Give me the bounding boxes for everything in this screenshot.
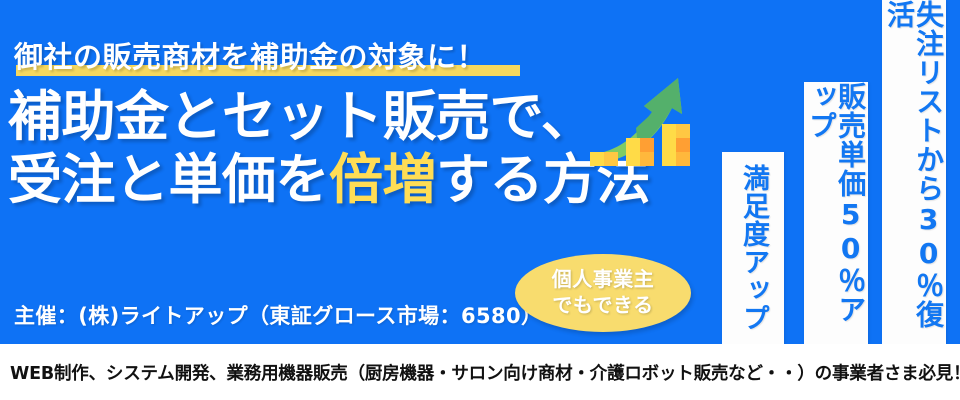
title-line-2-prefix: 受注と単価を: [8, 148, 329, 211]
bottom-target-bar: WEB制作、システム開発、業務用機器販売（厨房機器・サロン向け商材・介護ロボット…: [0, 344, 960, 400]
benefit-panel-unit-price-text: 販売単価50％アップ: [807, 82, 865, 344]
badge-sole-proprietor: 個人事業主 でもできる: [515, 254, 691, 332]
marketing-banner: 御社の販売商材を補助金の対象に！ 補助金とセット販売で、 受注と単価を倍増する方…: [0, 0, 960, 400]
benefit-panel-lost-deals-text: 失注リストから30％復活: [885, 0, 943, 344]
eyebrow-headline: 御社の販売商材を補助金の対象に！: [14, 30, 486, 76]
benefit-panel-unit-price: 販売単価50％アップ: [804, 82, 868, 344]
title-line-2-highlight: 倍増: [329, 148, 436, 211]
growth-chart-icon: [586, 68, 698, 172]
badge-line-2: でもできる: [552, 293, 653, 319]
bottom-target-text: WEB制作、システム開発、業務用機器販売（厨房機器・サロン向け商材・介護ロボット…: [10, 360, 960, 385]
benefit-panel-lost-deals: 失注リストから30％復活: [882, 0, 946, 344]
eyebrow-text: 御社の販売商材を補助金の対象に！: [14, 43, 486, 76]
badge-line-1: 個人事業主: [552, 267, 655, 293]
benefit-panel-satisfaction: 満足度アップ: [722, 152, 784, 344]
organizer-line: 主催：(株)ライトアップ（東証グロース市場：6580）: [14, 300, 542, 330]
benefit-panel-satisfaction-text: 満足度アップ: [739, 164, 767, 332]
